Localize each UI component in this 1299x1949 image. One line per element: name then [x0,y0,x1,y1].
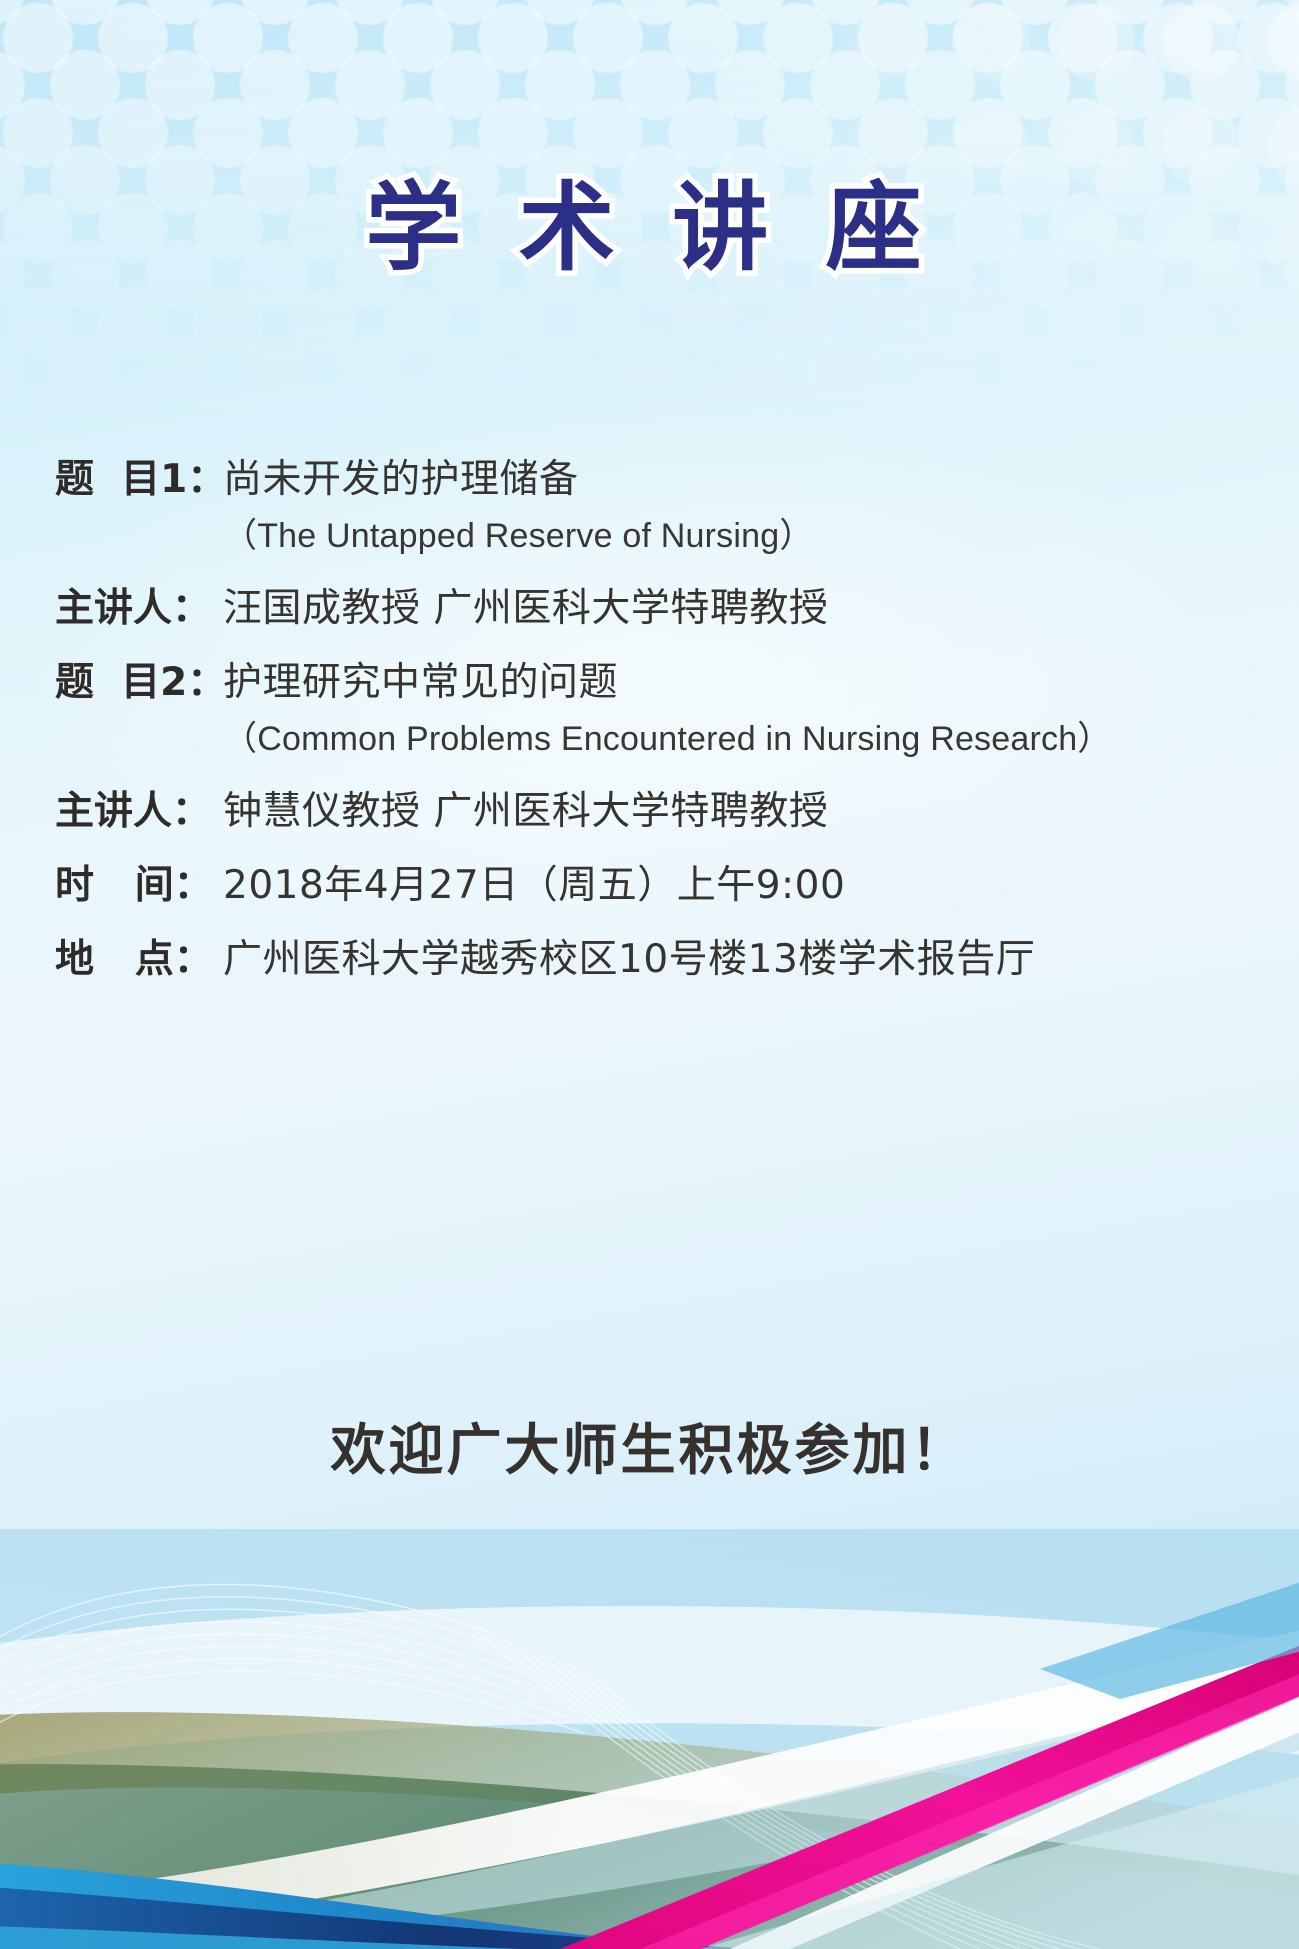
entry-subtitle-text: （Common Problems Encountered in Nursing … [223,720,1112,758]
entry-speaker-1: 主讲人： 汪国成教授 广州医科大学特聘教授 [0,577,1299,633]
entry-value: 2018年4月27日（周五）上午9:00 [223,854,1299,910]
entry-value: 护理研究中常见的问题 [223,651,1299,707]
entry-value: 尚未开发的护理储备 [223,448,1299,504]
entry-value: 钟慧仪教授 广州医科大学特聘教授 [223,780,1299,836]
entry-location: 地 点： 广州医科大学越秀校区10号楼13楼学术报告厅 [0,928,1299,984]
entry-topic-2: 题 目2： 护理研究中常见的问题 [0,651,1299,707]
poster-title-area: 学 术 讲 座 [0,178,1299,279]
entry-time: 时 间： 2018年4月27日（周五）上午9:00 [0,854,1299,910]
entry-label: 题 目2： [55,651,223,707]
welcome-area: 欢迎广大师生积极参加！ [0,1405,1299,1485]
entry-subtitle-text: （The Untapped Reserve of Nursing） [223,517,814,555]
entry-value: 广州医科大学越秀校区10号楼13楼学术报告厅 [223,928,1299,984]
entry-label: 主讲人： [55,780,223,836]
entry-subtitle-2: （Common Problems Encountered in Nursing … [0,711,1299,760]
entry-label: 题 目1： [55,448,223,504]
page-title: 学 术 讲 座 [365,178,933,279]
entry-label: 地 点： [55,928,223,984]
decorative-ribbons [0,1529,1299,1949]
welcome-text: 欢迎广大师生积极参加！ [330,1405,968,1485]
entry-speaker-2: 主讲人： 钟慧仪教授 广州医科大学特聘教授 [0,780,1299,836]
poster-canvas: 学 术 讲 座 题 目1： 尚未开发的护理储备 （The Untapped Re… [0,0,1299,1949]
entry-subtitle-1: （The Untapped Reserve of Nursing） [0,508,1299,557]
entry-label: 时 间： [55,854,223,910]
entry-value: 汪国成教授 广州医科大学特聘教授 [223,577,1299,633]
entry-label: 主讲人： [55,577,223,633]
poster-body: 题 目1： 尚未开发的护理储备 （The Untapped Reserve of… [0,448,1299,1002]
entry-topic-1: 题 目1： 尚未开发的护理储备 [0,448,1299,504]
